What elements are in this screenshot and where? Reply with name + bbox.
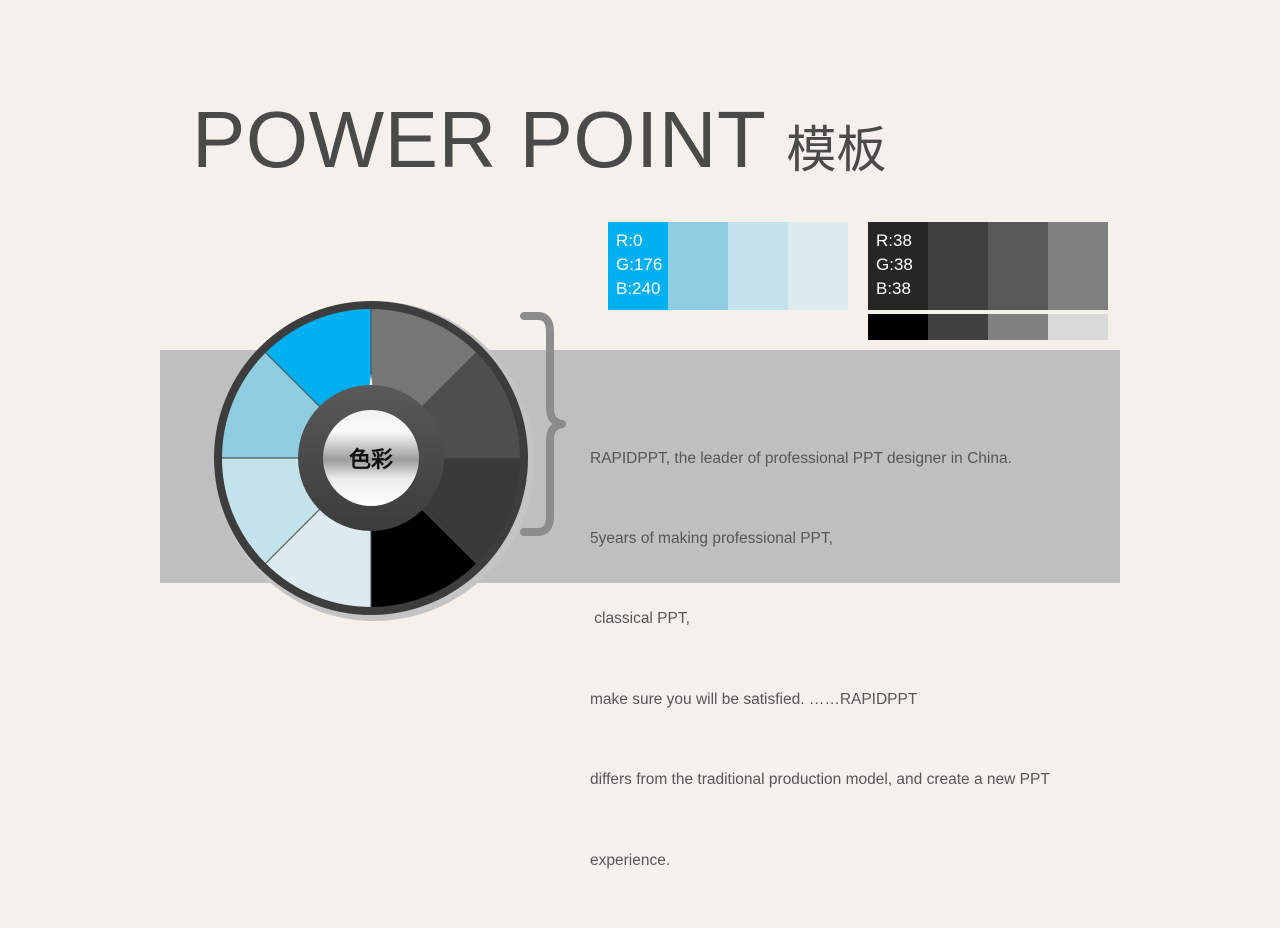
swatch-mini-mid-gray[interactable]	[988, 314, 1048, 340]
body-line-3: classical PPT,	[590, 606, 1110, 633]
dark-palette-group: R:38 G:38 B:38	[868, 222, 1108, 310]
swatch-blue-tint-3[interactable]	[788, 222, 848, 310]
curly-brace	[520, 310, 566, 538]
grayscale-strip	[868, 314, 1108, 340]
swatch-blue-tint-1[interactable]	[668, 222, 728, 310]
swatch-dark-rgb-label: R:38 G:38 B:38	[876, 229, 913, 301]
body-text-block: RAPIDPPT, the leader of professional PPT…	[590, 392, 1110, 928]
slide-canvas: POWER POINT 模板 R:0 G:176 B:240 R:38 G:38…	[0, 0, 1280, 720]
swatch-blue-primary[interactable]: R:0 G:176 B:240	[608, 222, 668, 310]
title-sub-text: 模板	[786, 125, 886, 175]
swatch-dark-tint-3[interactable]	[1048, 222, 1108, 310]
swatch-dark-tint-2[interactable]	[988, 222, 1048, 310]
swatch-dark-tint-1[interactable]	[928, 222, 988, 310]
body-line-6: experience.	[590, 848, 1110, 875]
body-line-2: 5years of making professional PPT,	[590, 526, 1110, 553]
swatch-mini-black[interactable]	[868, 314, 928, 340]
swatch-blue-tint-2[interactable]	[728, 222, 788, 310]
swatch-blue-rgb-label: R:0 G:176 B:240	[616, 229, 662, 301]
swatch-dark-primary[interactable]: R:38 G:38 B:38	[868, 222, 928, 310]
wheel-center-label: 色彩	[349, 447, 393, 473]
body-line-1: RAPIDPPT, the leader of professional PPT…	[590, 446, 1110, 473]
page-title: POWER POINT 模板	[192, 100, 886, 180]
brace-path	[524, 316, 562, 532]
title-main-text: POWER POINT	[192, 100, 766, 180]
body-line-4: make sure you will be satisfied. ……RAPID…	[590, 687, 1110, 714]
swatch-mini-dark-gray[interactable]	[928, 314, 988, 340]
swatch-mini-light-gray[interactable]	[1048, 314, 1108, 340]
body-line-5: differs from the traditional production …	[590, 767, 1110, 794]
color-wheel-graphic: 色彩	[208, 286, 538, 626]
blue-palette-group: R:0 G:176 B:240	[608, 222, 848, 310]
